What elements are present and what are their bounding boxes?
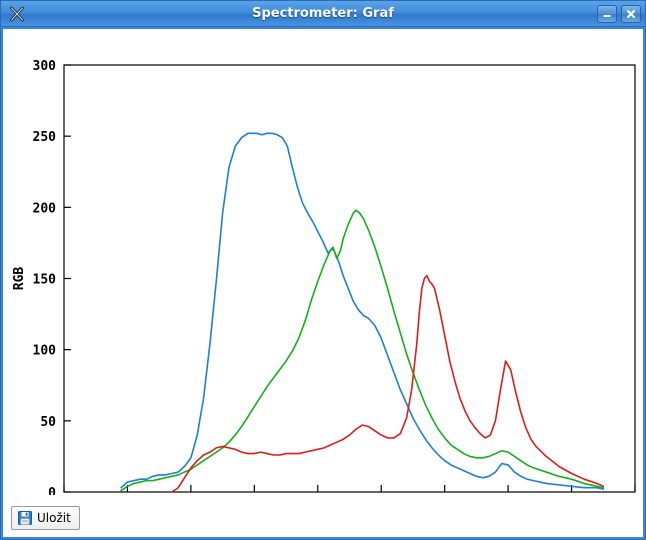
bottom-toolbar: Uložit	[3, 499, 643, 537]
y-tick-label: 50	[40, 415, 56, 430]
x-logo-icon	[7, 4, 27, 24]
save-button[interactable]: Uložit	[11, 506, 80, 530]
spectrometer-window: Spectrometer: Graf	[0, 0, 646, 540]
chart-canvas: 3003504004505005506006507007500501001502…	[3, 29, 641, 495]
y-tick-label: 300	[33, 59, 57, 74]
y-tick-label: 150	[33, 273, 57, 288]
save-button-label: Uložit	[37, 512, 71, 524]
window-controls	[597, 5, 641, 23]
client-area: 3003504004505005506006507007500501001502…	[3, 29, 643, 537]
close-button[interactable]	[621, 5, 641, 23]
window-title: Spectrometer: Graf	[1, 1, 645, 27]
title-bar[interactable]: Spectrometer: Graf	[1, 1, 645, 27]
y-tick-label: 0	[48, 486, 56, 495]
minimize-button[interactable]	[597, 5, 617, 23]
y-tick-label: 100	[33, 344, 57, 359]
y-tick-label: 250	[33, 130, 57, 145]
floppy-disk-icon	[18, 511, 32, 525]
y-axis-title: RGB	[12, 267, 27, 291]
spectrum-chart: 3003504004505005506006507007500501001502…	[3, 29, 643, 499]
y-tick-label: 200	[33, 201, 57, 216]
